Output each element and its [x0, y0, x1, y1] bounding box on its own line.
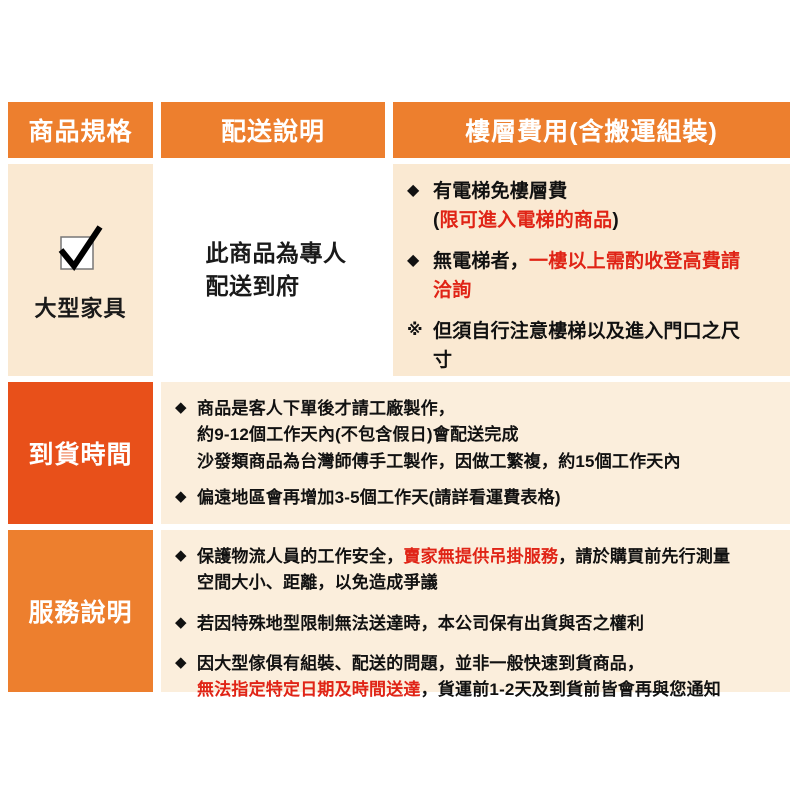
shipping-info-table: 商品規格 配送說明 樓層費用(含搬運組裝) 大型家具 — [8, 102, 790, 692]
bullet-text: 若因特殊地型限制無法送達時，本公司保有出貨與否之權利 — [197, 611, 780, 637]
column-header-floor-fee-label: 樓層費用(含搬運組裝) — [465, 112, 718, 148]
delivery-note-text: 此商品為專人 配送到府 — [200, 237, 347, 304]
bullet-line: 保護物流人員的工作安全，賣家無提供吊掛服務，請於購買前先行測量 — [197, 544, 780, 570]
diamond-bullet-icon: ◆ — [175, 396, 197, 420]
bullet-text: 商品是客人下單後才請工廠製作，約9-12個工作天內(不包含假日)會配送完成沙發類… — [197, 396, 780, 475]
highlight-text: 限可進入電梯的商品 — [440, 210, 613, 231]
bullet-item: ◆商品是客人下單後才請工廠製作，約9-12個工作天內(不包含假日)會配送完成沙發… — [175, 396, 780, 475]
bullet-item: ◆偏遠地區會再增加3-5個工作天(請詳看運費表格) — [175, 485, 780, 511]
row-label-arrival-time-text: 到貨時間 — [28, 435, 132, 471]
bullet-line: 因大型傢俱有組裝、配送的問題，並非一般快速到貨商品， — [197, 651, 780, 677]
bullet-item: ◆因大型傢俱有組裝、配送的問題，並非一般快速到貨商品，無法指定特定日期及時間送達… — [175, 651, 780, 704]
diamond-bullet-icon: ◆ — [407, 248, 433, 274]
table-row: 服務說明 ◆保護物流人員的工作安全，賣家無提供吊掛服務，請於購買前先行測量空間大… — [8, 530, 790, 692]
highlight-text: 洽詢 — [433, 280, 471, 301]
plain-text: 約9-12個工作天內(不包含假日)會配送完成 — [197, 425, 519, 444]
row-label-service-note-text: 服務說明 — [28, 593, 132, 629]
bullet-item: ◆保護物流人員的工作安全，賣家無提供吊掛服務，請於購買前先行測量空間大小、距離，… — [175, 544, 780, 597]
plain-text: ，請於購買前先行測量 — [558, 547, 730, 566]
checkbox-checked-icon — [55, 223, 107, 275]
delivery-note-cell: 此商品為專人 配送到府 — [161, 164, 385, 376]
bullet-line: 寸 — [433, 347, 780, 376]
floor-fee-cell: ◆有電梯免樓層費(限可進入電梯的商品)◆無電梯者，一樓以上需酌收登高費請洽詢※但… — [393, 164, 790, 376]
bullet-item: ◆無電梯者，一樓以上需酌收登高費請洽詢 — [407, 248, 780, 305]
row-label-arrival-time: 到貨時間 — [8, 382, 153, 524]
column-header-delivery-note: 配送說明 — [161, 102, 385, 158]
plain-text: ，貨運前1-2天及到貨前皆會再與您通知 — [421, 680, 721, 699]
bullet-item: ※但須自行注意樓梯以及進入門口之尺寸 — [407, 318, 780, 375]
arrival-time-bullet-list: ◆商品是客人下單後才請工廠製作，約9-12個工作天內(不包含假日)會配送完成沙發… — [175, 396, 780, 511]
service-note-cell: ◆保護物流人員的工作安全，賣家無提供吊掛服務，請於購買前先行測量空間大小、距離，… — [161, 530, 790, 692]
row-label-large-furniture-text: 大型家具 — [34, 291, 126, 323]
bullet-line: 無電梯者，一樓以上需酌收登高費請 — [433, 248, 780, 277]
diamond-bullet-icon: ◆ — [175, 485, 197, 509]
bullet-text: 有電梯免樓層費(限可進入電梯的商品) — [433, 178, 780, 235]
plain-text: 空間大小、距離，以免造成爭議 — [197, 573, 438, 592]
bullet-text: 保護物流人員的工作安全，賣家無提供吊掛服務，請於購買前先行測量空間大小、距離，以… — [197, 544, 780, 597]
plain-text: 沙發類商品為台灣師傅手工製作，因做工繁複，約15個工作天內 — [197, 452, 681, 471]
column-header-floor-fee: 樓層費用(含搬運組裝) — [393, 102, 790, 158]
bullet-line: 偏遠地區會再增加3-5個工作天(請詳看運費表格) — [197, 485, 780, 511]
highlight-text: 無法指定特定日期及時間送達 — [197, 680, 421, 699]
bullet-text: 因大型傢俱有組裝、配送的問題，並非一般快速到貨商品，無法指定特定日期及時間送達，… — [197, 651, 780, 704]
plain-text: ) — [612, 210, 619, 231]
bullet-line: (限可進入電梯的商品) — [433, 207, 780, 236]
bullet-line: 洽詢 — [433, 277, 780, 306]
table-row: 大型家具 此商品為專人 配送到府 ◆有電梯免樓層費(限可進入電梯的商品)◆無電梯… — [8, 164, 790, 376]
column-header-delivery-note-label: 配送說明 — [221, 112, 325, 148]
shipping-info-table-page: 商品規格 配送說明 樓層費用(含搬運組裝) 大型家具 — [0, 0, 800, 800]
plain-text: 若因特殊地型限制無法送達時，本公司保有出貨與否之權利 — [197, 614, 644, 633]
plain-text: 因大型傢俱有組裝、配送的問題，並非一般快速到貨商品， — [197, 654, 644, 673]
plain-text: 但須自行注意樓梯以及進入門口之尺 — [433, 321, 740, 342]
delivery-note-line-1: 此商品為專人 — [206, 237, 347, 270]
bullet-line: 商品是客人下單後才請工廠製作， — [197, 396, 780, 422]
highlight-text: 一樓以上需酌收登高費請 — [529, 251, 740, 272]
plain-text: 寸 — [433, 350, 452, 371]
diamond-bullet-icon: ◆ — [175, 651, 197, 675]
bullet-text: 但須自行注意樓梯以及進入門口之尺寸 — [433, 318, 780, 375]
bullet-line: 若因特殊地型限制無法送達時，本公司保有出貨與否之權利 — [197, 611, 780, 637]
table-header-row: 商品規格 配送說明 樓層費用(含搬運組裝) — [8, 102, 790, 158]
diamond-bullet-icon: ◆ — [175, 611, 197, 635]
bullet-item: ◆若因特殊地型限制無法送達時，本公司保有出貨與否之權利 — [175, 611, 780, 637]
bullet-line: 約9-12個工作天內(不包含假日)會配送完成 — [197, 422, 780, 448]
column-header-product-spec: 商品規格 — [8, 102, 153, 158]
delivery-note-line-2: 配送到府 — [206, 270, 347, 303]
reference-mark-icon: ※ — [407, 318, 433, 344]
service-note-bullet-list: ◆保護物流人員的工作安全，賣家無提供吊掛服務，請於購買前先行測量空間大小、距離，… — [175, 544, 780, 704]
highlight-text: 賣家無提供吊掛服務 — [403, 547, 558, 566]
bullet-text: 無電梯者，一樓以上需酌收登高費請洽詢 — [433, 248, 780, 305]
plain-text: 保護物流人員的工作安全， — [197, 547, 403, 566]
plain-text: 偏遠地區會再增加3-5個工作天(請詳看運費表格) — [197, 488, 561, 507]
floor-fee-bullet-list: ◆有電梯免樓層費(限可進入電梯的商品)◆無電梯者，一樓以上需酌收登高費請洽詢※但… — [407, 178, 780, 375]
bullet-item: ◆有電梯免樓層費(限可進入電梯的商品) — [407, 178, 780, 235]
bullet-line: 無法指定特定日期及時間送達，貨運前1-2天及到貨前皆會再與您通知 — [197, 677, 780, 703]
bullet-line: 有電梯免樓層費 — [433, 178, 780, 207]
diamond-bullet-icon: ◆ — [407, 178, 433, 204]
bullet-line: 空間大小、距離，以免造成爭議 — [197, 570, 780, 596]
bullet-line: 沙發類商品為台灣師傅手工製作，因做工繁複，約15個工作天內 — [197, 449, 780, 475]
row-label-service-note: 服務說明 — [8, 530, 153, 692]
diamond-bullet-icon: ◆ — [175, 544, 197, 568]
plain-text: 無電梯者， — [433, 251, 529, 272]
bullet-line: 但須自行注意樓梯以及進入門口之尺 — [433, 318, 780, 347]
plain-text: 有電梯免樓層費 — [433, 181, 567, 202]
table-row: 到貨時間 ◆商品是客人下單後才請工廠製作，約9-12個工作天內(不包含假日)會配… — [8, 382, 790, 524]
plain-text: 商品是客人下單後才請工廠製作， — [197, 399, 455, 418]
arrival-time-cell: ◆商品是客人下單後才請工廠製作，約9-12個工作天內(不包含假日)會配送完成沙發… — [161, 382, 790, 524]
bullet-text: 偏遠地區會再增加3-5個工作天(請詳看運費表格) — [197, 485, 780, 511]
row-label-large-furniture: 大型家具 — [8, 164, 153, 376]
column-header-product-spec-label: 商品規格 — [28, 112, 132, 148]
